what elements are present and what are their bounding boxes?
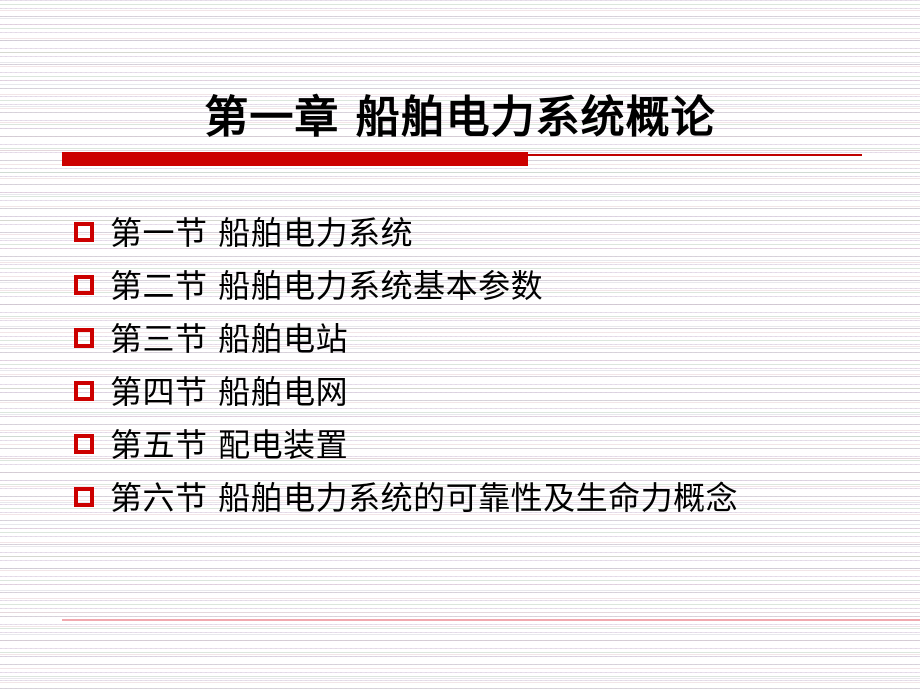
list-item-label: 第四节 船舶电网 [110, 369, 904, 415]
square-bullet-icon [74, 381, 94, 401]
list-item-label: 第五节 配电装置 [110, 422, 904, 468]
list-item-label: 第六节 船舶电力系统的可靠性及生命力概念 [110, 475, 904, 521]
slide-title: 第一章 船舶电力系统概论 [0, 92, 920, 144]
list-item-label: 第一节 船舶电力系统 [110, 210, 904, 256]
square-bullet-icon [74, 222, 94, 242]
square-bullet-icon [74, 275, 94, 295]
list-item[interactable]: 第一节 船舶电力系统 [74, 210, 904, 263]
list-item-label: 第二节 船舶电力系统基本参数 [110, 263, 904, 309]
square-bullet-icon [74, 328, 94, 348]
list-item[interactable]: 第四节 船舶电网 [74, 369, 904, 422]
list-item[interactable]: 第三节 船舶电站 [74, 316, 904, 369]
presentation-slide: 第一章 船舶电力系统概论 第一节 船舶电力系统 第二节 船舶电力系统基本参数 第… [0, 0, 920, 690]
list-item[interactable]: 第五节 配电装置 [74, 422, 904, 475]
section-list: 第一节 船舶电力系统 第二节 船舶电力系统基本参数 第三节 船舶电站 第四节 船… [74, 210, 904, 528]
square-bullet-icon [74, 487, 94, 507]
square-bullet-icon [74, 434, 94, 454]
title-underline-thick-bar [62, 152, 528, 166]
slide-content: 第一章 船舶电力系统概论 第一节 船舶电力系统 第二节 船舶电力系统基本参数 第… [0, 0, 920, 690]
list-item[interactable]: 第六节 船舶电力系统的可靠性及生命力概念 [74, 475, 904, 528]
list-item-label: 第三节 船舶电站 [110, 316, 904, 362]
footer-divider [62, 619, 920, 621]
list-item[interactable]: 第二节 船舶电力系统基本参数 [74, 263, 904, 316]
